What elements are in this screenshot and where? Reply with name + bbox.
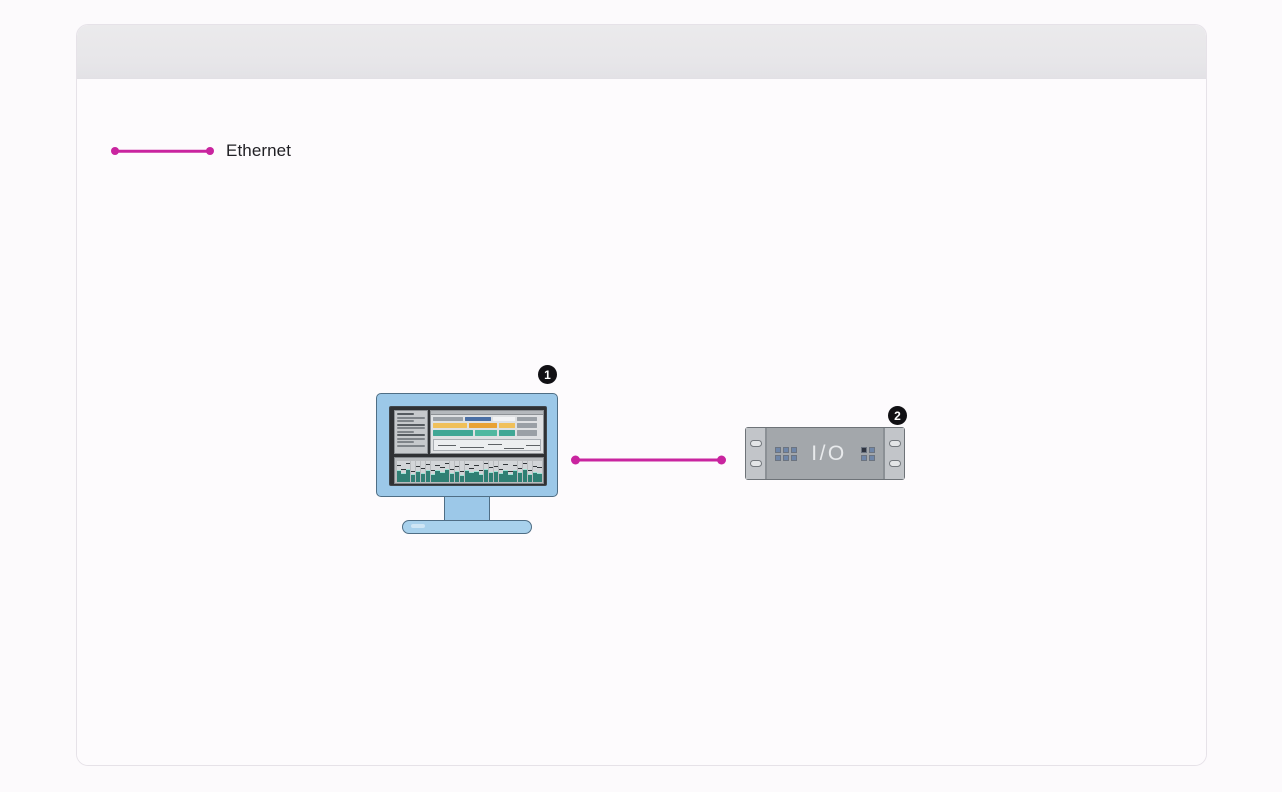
monitor-screen <box>389 406 547 486</box>
legend-connector-line <box>114 150 211 153</box>
connection-endpoint-end <box>717 456 726 465</box>
rack-mount-slot <box>889 460 901 467</box>
window-titlebar[interactable] <box>77 25 1206 79</box>
screenshot-root: Ethernet 1 <box>0 0 1282 792</box>
rack-front-panel: I/O <box>766 428 884 479</box>
monitor-bezel <box>376 393 558 497</box>
led-grid-right-icon <box>861 447 875 461</box>
daw-timeline <box>430 410 544 454</box>
rack-mount-slot <box>889 440 901 447</box>
daw-arrange-window <box>394 410 544 454</box>
io-label: I/O <box>811 443 847 464</box>
rack-ear-left <box>746 428 766 479</box>
led-grid-left-icon <box>775 447 797 461</box>
rack-ear-right <box>884 428 904 479</box>
daw-browser-panel <box>394 410 428 454</box>
connection-ethernet-workstation-to-io[interactable] <box>571 455 726 465</box>
legend: Ethernet <box>111 139 291 163</box>
daw-waveform-strip <box>433 439 541 451</box>
monitor-stand-base <box>402 520 532 534</box>
legend-swatch-ethernet <box>111 145 214 157</box>
node-badge-2[interactable]: 2 <box>888 406 907 425</box>
connection-line <box>575 459 722 462</box>
rack-chassis: I/O <box>745 427 905 480</box>
legend-label-ethernet: Ethernet <box>226 141 291 161</box>
rack-mount-slot <box>750 460 762 467</box>
node-badge-1[interactable]: 1 <box>538 365 557 384</box>
monitor-stand-neck <box>444 497 490 522</box>
workstation-node[interactable] <box>376 393 558 574</box>
daw-mixer-panel <box>394 457 544 484</box>
diagram-canvas: Ethernet 1 <box>77 79 1206 766</box>
legend-endpoint-dot-end <box>206 147 214 155</box>
diagram-window-panel: Ethernet 1 <box>76 24 1207 766</box>
rack-mount-slot <box>750 440 762 447</box>
io-rack-node[interactable]: I/O <box>745 427 905 480</box>
